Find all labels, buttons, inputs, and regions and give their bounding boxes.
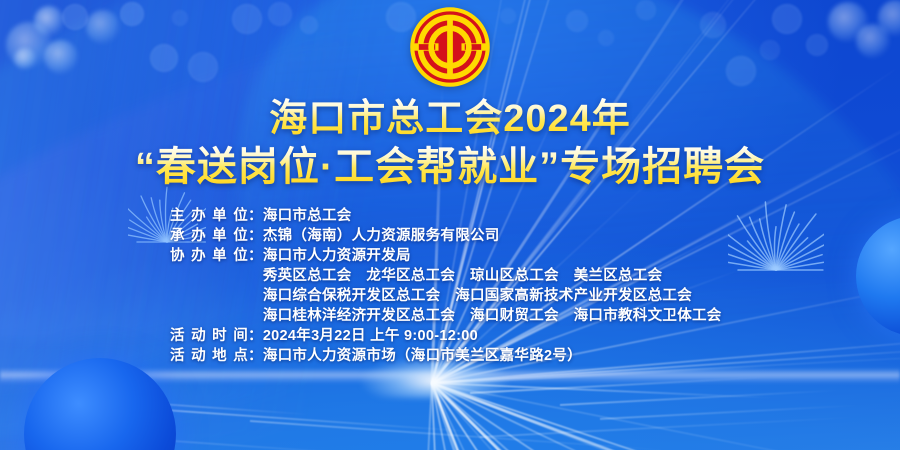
light-ray xyxy=(412,383,433,450)
info-row-value: 海口市总工会 xyxy=(263,206,730,226)
info-row-label: 承办单位 xyxy=(170,226,248,246)
light-streak xyxy=(60,396,310,415)
info-row-value: 海口市人力资源开发局 xyxy=(263,246,730,266)
info-row-value: 2024年3月22日 上午 9:00-12:00 xyxy=(263,326,730,346)
light-ray xyxy=(431,382,816,450)
light-ray xyxy=(432,382,900,450)
light-ray xyxy=(431,383,654,450)
light-ray xyxy=(431,382,674,450)
info-row: 协办单位：海口市人力资源开发局 xyxy=(170,246,730,266)
light-ray xyxy=(432,382,752,450)
poster-title-group: 海口市总工会2024年 “春送岗位·工会帮就业”专场招聘会 xyxy=(0,98,900,189)
light-ray xyxy=(431,382,691,450)
info-row-label: 活动地点 xyxy=(170,346,248,366)
light-streak xyxy=(30,430,389,450)
union-emblem xyxy=(0,6,900,88)
info-row: 承办单位：杰锦（海南）人力资源服务有限公司 xyxy=(170,226,730,246)
light-ray xyxy=(431,382,862,450)
info-row-colon: ： xyxy=(248,326,263,346)
info-row-label: 协办单位 xyxy=(170,246,248,266)
light-ray xyxy=(432,382,775,399)
info-row: 活动地点：海口市人力资源市场（海口市美兰区嘉华路2号） xyxy=(170,346,730,366)
light-ray xyxy=(432,382,900,450)
light-streak xyxy=(480,416,860,437)
info-row-value: 海口市人力资源市场（海口市美兰区嘉华路2号） xyxy=(263,346,730,366)
poster-title-line-1: 海口市总工会2024年 xyxy=(0,98,900,141)
light-ray xyxy=(431,383,459,450)
info-row: 协办单位：海口桂林洋经济开发区总工会 海口财贸工会 海口市教科文卫体工会 xyxy=(170,306,730,326)
light-ray xyxy=(431,383,553,450)
poster-title-line-2: “春送岗位·工会帮就业”专场招聘会 xyxy=(0,145,900,190)
info-row-colon: ： xyxy=(248,346,263,366)
light-streak xyxy=(470,376,770,393)
info-row: 协办单位：海口综合保税开发区总工会 海口国家高新技术产业开发区总工会 xyxy=(170,286,730,306)
light-ray xyxy=(431,382,731,450)
light-ray xyxy=(432,382,900,450)
light-streak xyxy=(600,404,860,419)
info-row: 主办单位：海口市总工会 xyxy=(170,206,730,226)
light-ray xyxy=(431,382,900,450)
light-ray xyxy=(432,382,886,450)
light-ray xyxy=(431,383,621,450)
light-ray xyxy=(432,365,769,385)
info-row: 协办单位：秀英区总工会 龙华区总工会 琼山区总工会 美兰区总工会 xyxy=(170,266,730,286)
light-ray xyxy=(431,382,881,450)
light-ray xyxy=(431,383,564,450)
poster-info-block: 主办单位：海口市总工会承办单位：杰锦（海南）人力资源服务有限公司协办单位：海口市… xyxy=(0,206,900,366)
light-streak xyxy=(250,420,669,450)
recruitment-poster: 海口市总工会2024年 “春送岗位·工会帮就业”专场招聘会 主办单位：海口市总工… xyxy=(0,0,900,450)
light-streak xyxy=(150,408,479,433)
info-row-label: 主办单位 xyxy=(170,206,248,226)
info-row-colon: ： xyxy=(248,246,263,266)
info-row-value: 杰锦（海南）人力资源服务有限公司 xyxy=(263,226,730,246)
info-row-value: 秀英区总工会 龙华区总工会 琼山区总工会 美兰区总工会 xyxy=(263,266,730,286)
info-row-value: 海口桂林洋经济开发区总工会 海口财贸工会 海口市教科文卫体工会 xyxy=(263,306,730,326)
info-row-label: 活动时间 xyxy=(170,326,248,346)
decorative-sphere-left xyxy=(24,358,176,450)
info-row-value: 海口综合保税开发区总工会 海口国家高新技术产业开发区总工会 xyxy=(263,286,730,306)
info-row-colon: ： xyxy=(248,206,263,226)
light-ray xyxy=(432,382,757,450)
info-row: 活动时间：2024年3月22日 上午 9:00-12:00 xyxy=(170,326,730,346)
light-ray xyxy=(431,382,685,450)
light-streak xyxy=(560,389,840,405)
horizon-glow xyxy=(0,368,900,384)
info-row-colon: ： xyxy=(248,226,263,246)
light-ray xyxy=(431,383,535,450)
